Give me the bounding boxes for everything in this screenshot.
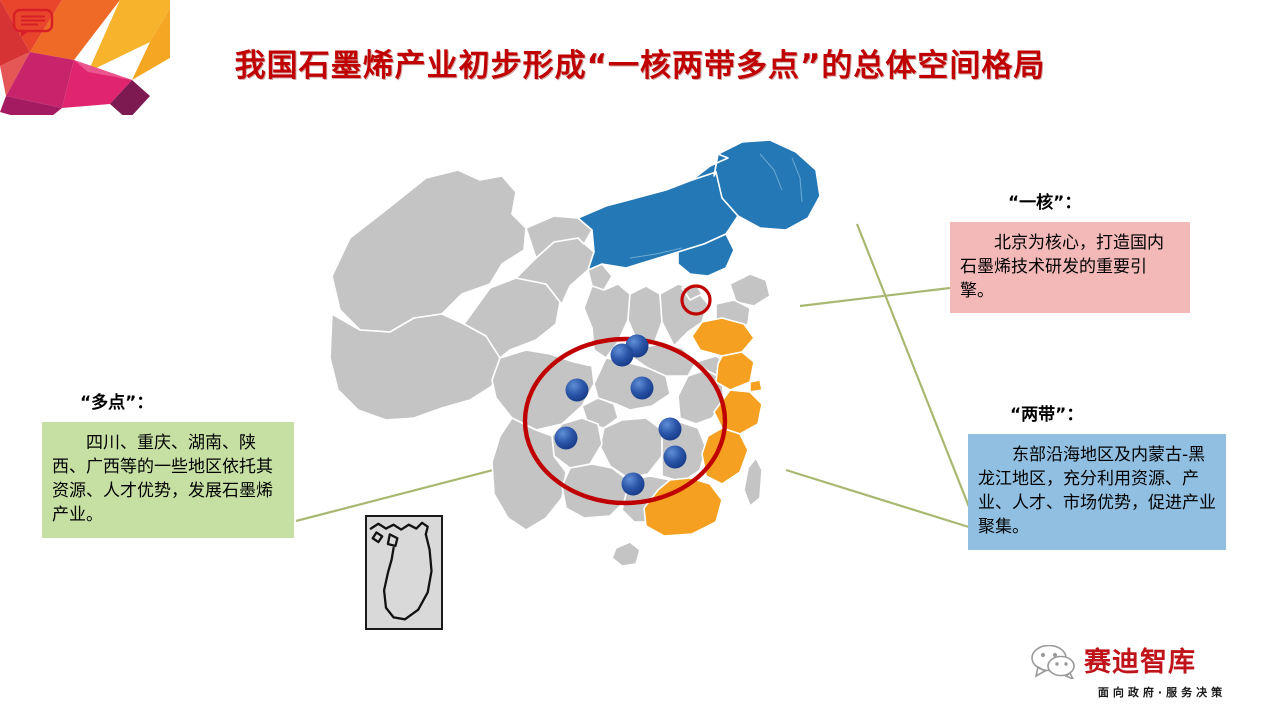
brand-logo: 赛迪智库 面向政府·服务决策 bbox=[1030, 645, 1260, 707]
brand-logo-name: 赛迪智库 bbox=[1084, 649, 1196, 676]
callout-yihe-body: 北京为核心，打造国内石墨烯技术研发的重要引擎。 bbox=[950, 222, 1190, 313]
callout-liangdai-head: “两带”： bbox=[968, 400, 1226, 425]
south-china-sea-inset bbox=[365, 515, 443, 630]
callout-duodian-body: 四川、重庆、湖南、陕西、广西等的一些地区依托其资源、人才优势，发展石墨烯产业。 bbox=[42, 422, 294, 538]
callout-liangdai: “两带”： 东部沿海地区及内蒙古-黑龙江地区，充分利用资源、产业、人才、市场优势… bbox=[968, 400, 1226, 550]
page-title: 我国石墨烯产业初步形成“一核两带多点”的总体空间格局 bbox=[0, 40, 1280, 85]
brand-logo-row: 赛迪智库 bbox=[1030, 645, 1260, 679]
wechat-icon bbox=[1030, 645, 1078, 679]
callout-yihe-head: “一核”： bbox=[950, 188, 1190, 213]
callout-liangdai-body: 东部沿海地区及内蒙古-黑龙江地区，充分利用资源、产业、人才、市场优势，促进产业聚… bbox=[968, 434, 1226, 550]
callout-yihe: “一核”： 北京为核心，打造国内石墨烯技术研发的重要引擎。 bbox=[950, 188, 1190, 313]
slide-canvas: 我国石墨烯产业初步形成“一核两带多点”的总体空间格局 bbox=[0, 0, 1280, 720]
brand-logo-tagline: 面向政府·服务决策 bbox=[1030, 684, 1260, 700]
callout-duodian: “多点”： 四川、重庆、湖南、陕西、广西等的一些地区依托其资源、人才优势，发展石… bbox=[42, 388, 294, 538]
speech-bubble-icon bbox=[12, 8, 54, 38]
callout-duodian-head: “多点”： bbox=[42, 388, 294, 413]
